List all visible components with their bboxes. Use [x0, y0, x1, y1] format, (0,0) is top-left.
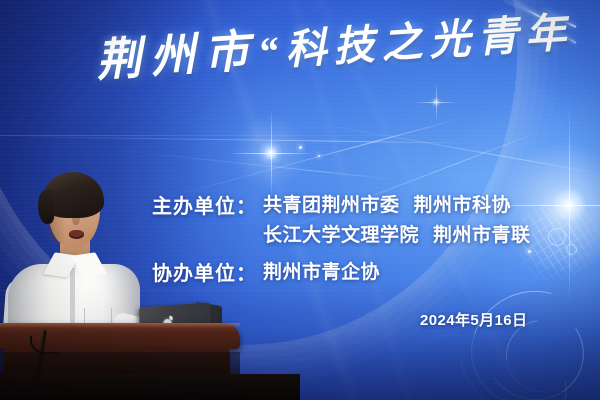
- co-organizers-block: 协办单位： 荆州市青企协: [152, 257, 380, 286]
- organizer-secondary-2: 荆州市青联: [433, 220, 531, 247]
- organizers-values: 共青团荆州市委 荆州市科协 长江大学文理学院 荆州市青联: [263, 190, 531, 247]
- organizer-primary-2: 长江大学文理学院: [263, 220, 419, 247]
- event-photo-screenshot: 荆州市“科技之光青年 主办单位： 共青团荆州市委 荆州市科协 长江大学文理学院 …: [0, 0, 600, 400]
- event-title-part-1: 荆州市: [95, 26, 260, 86]
- co-organizer-value: 荆州市青企协: [263, 257, 380, 286]
- speaker-hair-side: [36, 189, 55, 224]
- co-organizers-label: 协办单位：: [152, 257, 257, 286]
- organizer-primary-1: 共青团荆州市委: [263, 190, 400, 217]
- organizers-line-2: 长江大学文理学院 荆州市青联: [263, 220, 531, 247]
- organizers-block: 主办单位： 共青团荆州市委 荆州市科协 长江大学文理学院 荆州市青联: [152, 190, 531, 247]
- organizer-secondary-1: 荆州市科协: [414, 190, 512, 217]
- organizers-label: 主办单位：: [152, 190, 257, 219]
- podium-base: [0, 374, 300, 400]
- event-date: 2024年5月16日: [420, 309, 527, 330]
- organizers-line-1: 共青团荆州市委 荆州市科协: [263, 190, 531, 217]
- podium-top-highlight: [0, 323, 240, 328]
- speaker-mouth: [69, 230, 84, 239]
- organizers-row: 主办单位： 共青团荆州市委 荆州市科协 长江大学文理学院 荆州市青联: [152, 190, 531, 247]
